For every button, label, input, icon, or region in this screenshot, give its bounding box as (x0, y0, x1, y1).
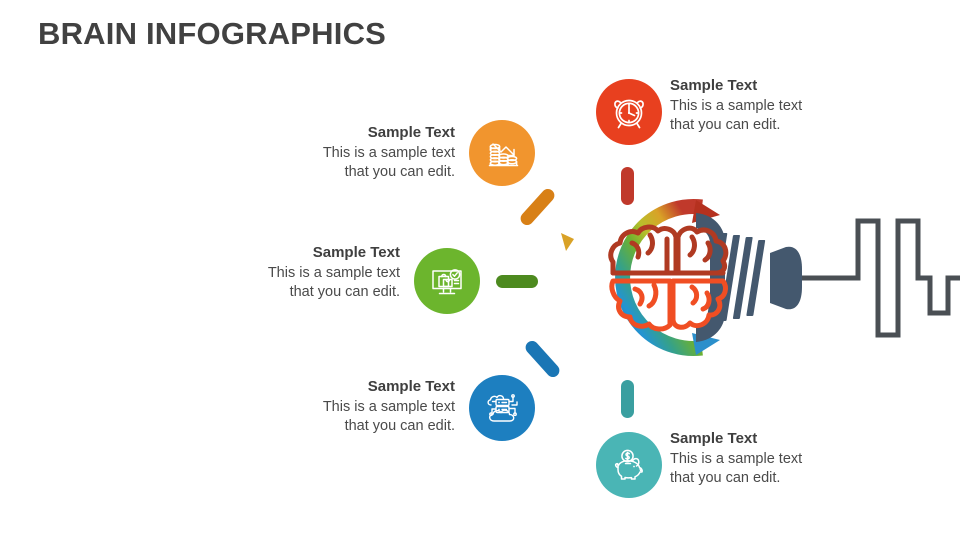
node-body-line1: This is a sample text (200, 264, 400, 283)
slide-canvas: BRAIN INFOGRAPHICS (0, 0, 960, 540)
node-text-cloud: Sample Text This is a sample text that y… (255, 377, 455, 436)
node-body-line1: This is a sample text (670, 97, 870, 116)
declining-coins-chart-icon (482, 133, 522, 173)
node-circle-cloud[interactable] (469, 375, 535, 441)
node-circle-piggybank[interactable] (596, 432, 662, 498)
cloud-server-network-icon (482, 388, 522, 428)
brain-lightbulb-graphic (520, 185, 960, 370)
node-body-line1: This is a sample text (255, 398, 455, 417)
node-body-line1: This is a sample text (255, 144, 455, 163)
heartbeat-pulse-line (802, 221, 960, 335)
node-body-line2: that you can edit. (670, 469, 870, 488)
alarm-clock-icon (609, 92, 649, 132)
piggy-bank-coin-icon (609, 445, 649, 485)
connector-top (621, 167, 634, 205)
node-text-ecommerce: Sample Text This is a sample text that y… (200, 243, 400, 302)
node-body-line2: that you can edit. (670, 116, 870, 135)
connector-bottom (621, 380, 634, 418)
node-heading: Sample Text (200, 243, 400, 262)
node-text-clock: Sample Text This is a sample text that y… (670, 76, 870, 135)
page-title: BRAIN INFOGRAPHICS (38, 16, 386, 52)
node-circle-coins[interactable] (469, 120, 535, 186)
node-body-line1: This is a sample text (670, 450, 870, 469)
node-circle-ecommerce[interactable] (414, 248, 480, 314)
node-heading: Sample Text (670, 76, 870, 95)
connector-left (496, 275, 538, 288)
node-body-line2: that you can edit. (255, 417, 455, 436)
node-text-piggybank: Sample Text This is a sample text that y… (670, 429, 870, 488)
node-heading: Sample Text (670, 429, 870, 448)
node-circle-clock[interactable] (596, 79, 662, 145)
node-text-coins: Sample Text This is a sample text that y… (255, 123, 455, 182)
node-body-line2: that you can edit. (200, 283, 400, 302)
monitor-shopping-check-icon (427, 261, 467, 301)
node-body-line2: that you can edit. (255, 163, 455, 182)
node-heading: Sample Text (255, 377, 455, 396)
node-heading: Sample Text (255, 123, 455, 142)
